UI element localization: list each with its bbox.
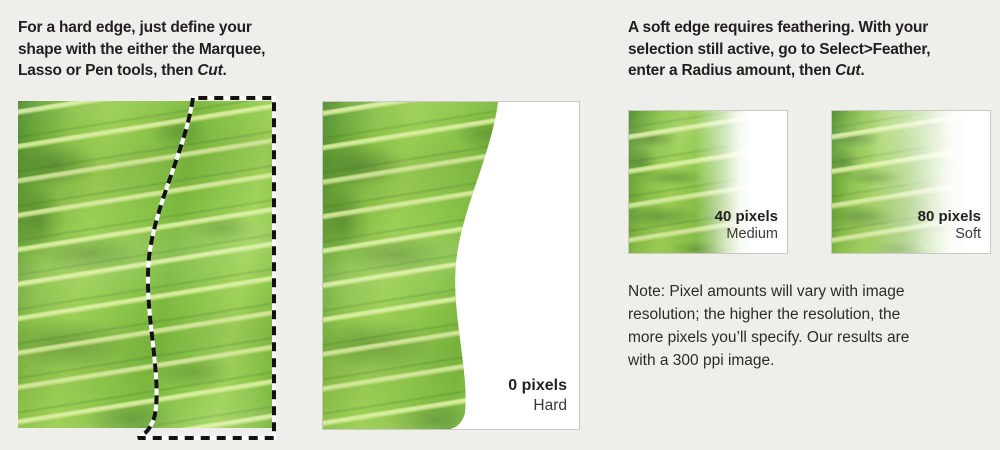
soft-edge-heading-line-3: enter a Radius amount, then	[628, 62, 835, 79]
resolution-note-line-1: Note: Pixel amounts will vary with image	[628, 283, 905, 300]
feather-soft-radius-amount: 80 pixels	[918, 208, 981, 225]
soft-edge-heading-emphasis: Cut	[835, 62, 860, 79]
soft-edge-heading-line-1: A soft edge requires feathering. With yo…	[628, 19, 928, 36]
resolution-note-line-3: more pixels you’ll specify. Our results …	[628, 329, 909, 346]
feather-medium-radius-amount: 40 pixels	[715, 208, 778, 225]
leaf-highlight-bands	[18, 101, 272, 428]
feather-medium-quality: Medium	[715, 226, 778, 243]
hard-edge-heading-line-2: shape with the either the Marquee,	[18, 41, 265, 58]
hard-edge-heading-line-1: For a hard edge, just define your	[18, 19, 252, 36]
resolution-note-line-4: with a 300 ppi image.	[628, 352, 774, 369]
resolution-note: Note: Pixel amounts will vary with image…	[628, 280, 948, 372]
hard-cut-radius-amount: 0 pixels	[508, 377, 567, 395]
feather-soft-quality: Soft	[918, 226, 981, 243]
hard-cut-result-photo: 0 pixels Hard	[322, 101, 580, 430]
hard-edge-heading-period: .	[223, 62, 227, 79]
hard-edge-heading-emphasis: Cut	[197, 62, 222, 79]
feather-soft-thumbnail: 80 pixels Soft	[831, 110, 991, 254]
soft-edge-heading-period: .	[860, 62, 864, 79]
soft-edge-heading-line-2: selection still active, go to Select>Fea…	[628, 41, 930, 58]
feather-medium-thumbnail: 40 pixels Medium	[628, 110, 788, 254]
feather-medium-label: 40 pixels Medium	[715, 208, 778, 243]
leaf-texture	[18, 101, 272, 428]
soft-edge-heading: A soft edge requires feathering. With yo…	[628, 17, 1000, 82]
feather-soft-label: 80 pixels Soft	[918, 208, 981, 243]
hard-cut-label: 0 pixels Hard	[508, 377, 567, 415]
hard-edge-heading-line-3: Lasso or Pen tools, then	[18, 62, 197, 79]
hard-edge-heading: For a hard edge, just define your shape …	[18, 17, 304, 82]
hard-cut-quality: Hard	[508, 397, 567, 415]
source-leaf-photo	[18, 101, 272, 428]
resolution-note-line-2: resolution; the higher the resolution, t…	[628, 306, 900, 323]
